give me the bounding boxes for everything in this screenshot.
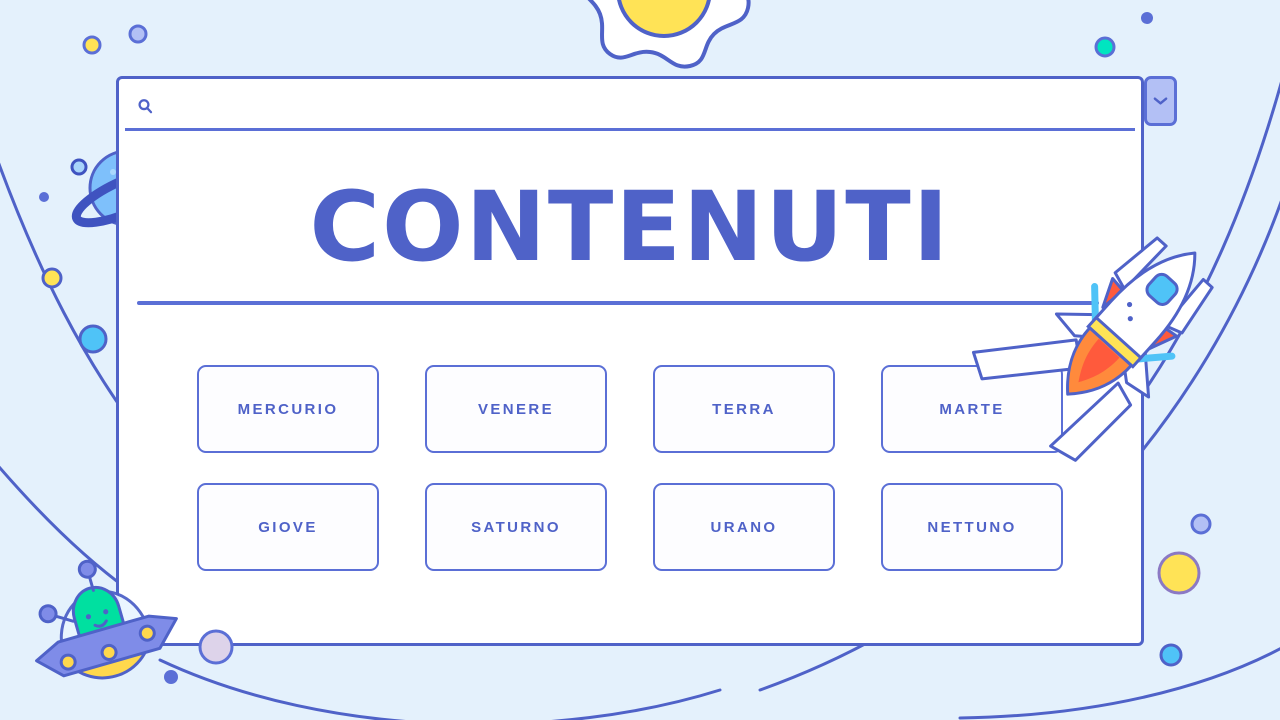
planet-button-giove[interactable]: GIOVE — [197, 483, 379, 571]
planet-button-saturno[interactable]: SATURNO — [425, 483, 607, 571]
planet-button-label: NETTUNO — [927, 519, 1016, 536]
content-card: CONTENUTI MERCURIO VENERE TERRA MARTE GI… — [116, 76, 1144, 646]
search-field-wrapper[interactable] — [125, 87, 1135, 131]
planet-button-label: VENERE — [478, 401, 554, 418]
search-icon — [137, 98, 153, 114]
planet-button-mercurio[interactable]: MERCURIO — [197, 365, 379, 453]
planet-button-urano[interactable]: URANO — [653, 483, 835, 571]
planet-button-terra[interactable]: TERRA — [653, 365, 835, 453]
planet-button-label: TERRA — [712, 401, 776, 418]
page-title-block: CONTENUTI — [119, 179, 1141, 275]
planet-button-grid: MERCURIO VENERE TERRA MARTE GIOVE SATURN… — [197, 365, 1063, 571]
planet-button-nettuno[interactable]: NETTUNO — [881, 483, 1063, 571]
dropdown-toggle-button[interactable] — [1144, 76, 1177, 126]
search-input[interactable] — [153, 93, 1135, 123]
planet-button-label: SATURNO — [471, 519, 561, 536]
planet-button-label: URANO — [711, 519, 778, 536]
planet-button-label: MERCURIO — [238, 401, 339, 418]
sun-icon — [581, 0, 748, 67]
planet-button-marte[interactable]: MARTE — [881, 365, 1063, 453]
planet-button-venere[interactable]: VENERE — [425, 365, 607, 453]
chevron-down-icon — [1153, 96, 1168, 106]
planet-button-label: GIOVE — [258, 519, 318, 536]
title-divider — [137, 301, 1099, 305]
search-bar — [119, 79, 1141, 127]
planet-button-label: MARTE — [939, 401, 1004, 418]
page-title: CONTENUTI — [119, 179, 1141, 275]
orbit-line — [160, 660, 720, 720]
